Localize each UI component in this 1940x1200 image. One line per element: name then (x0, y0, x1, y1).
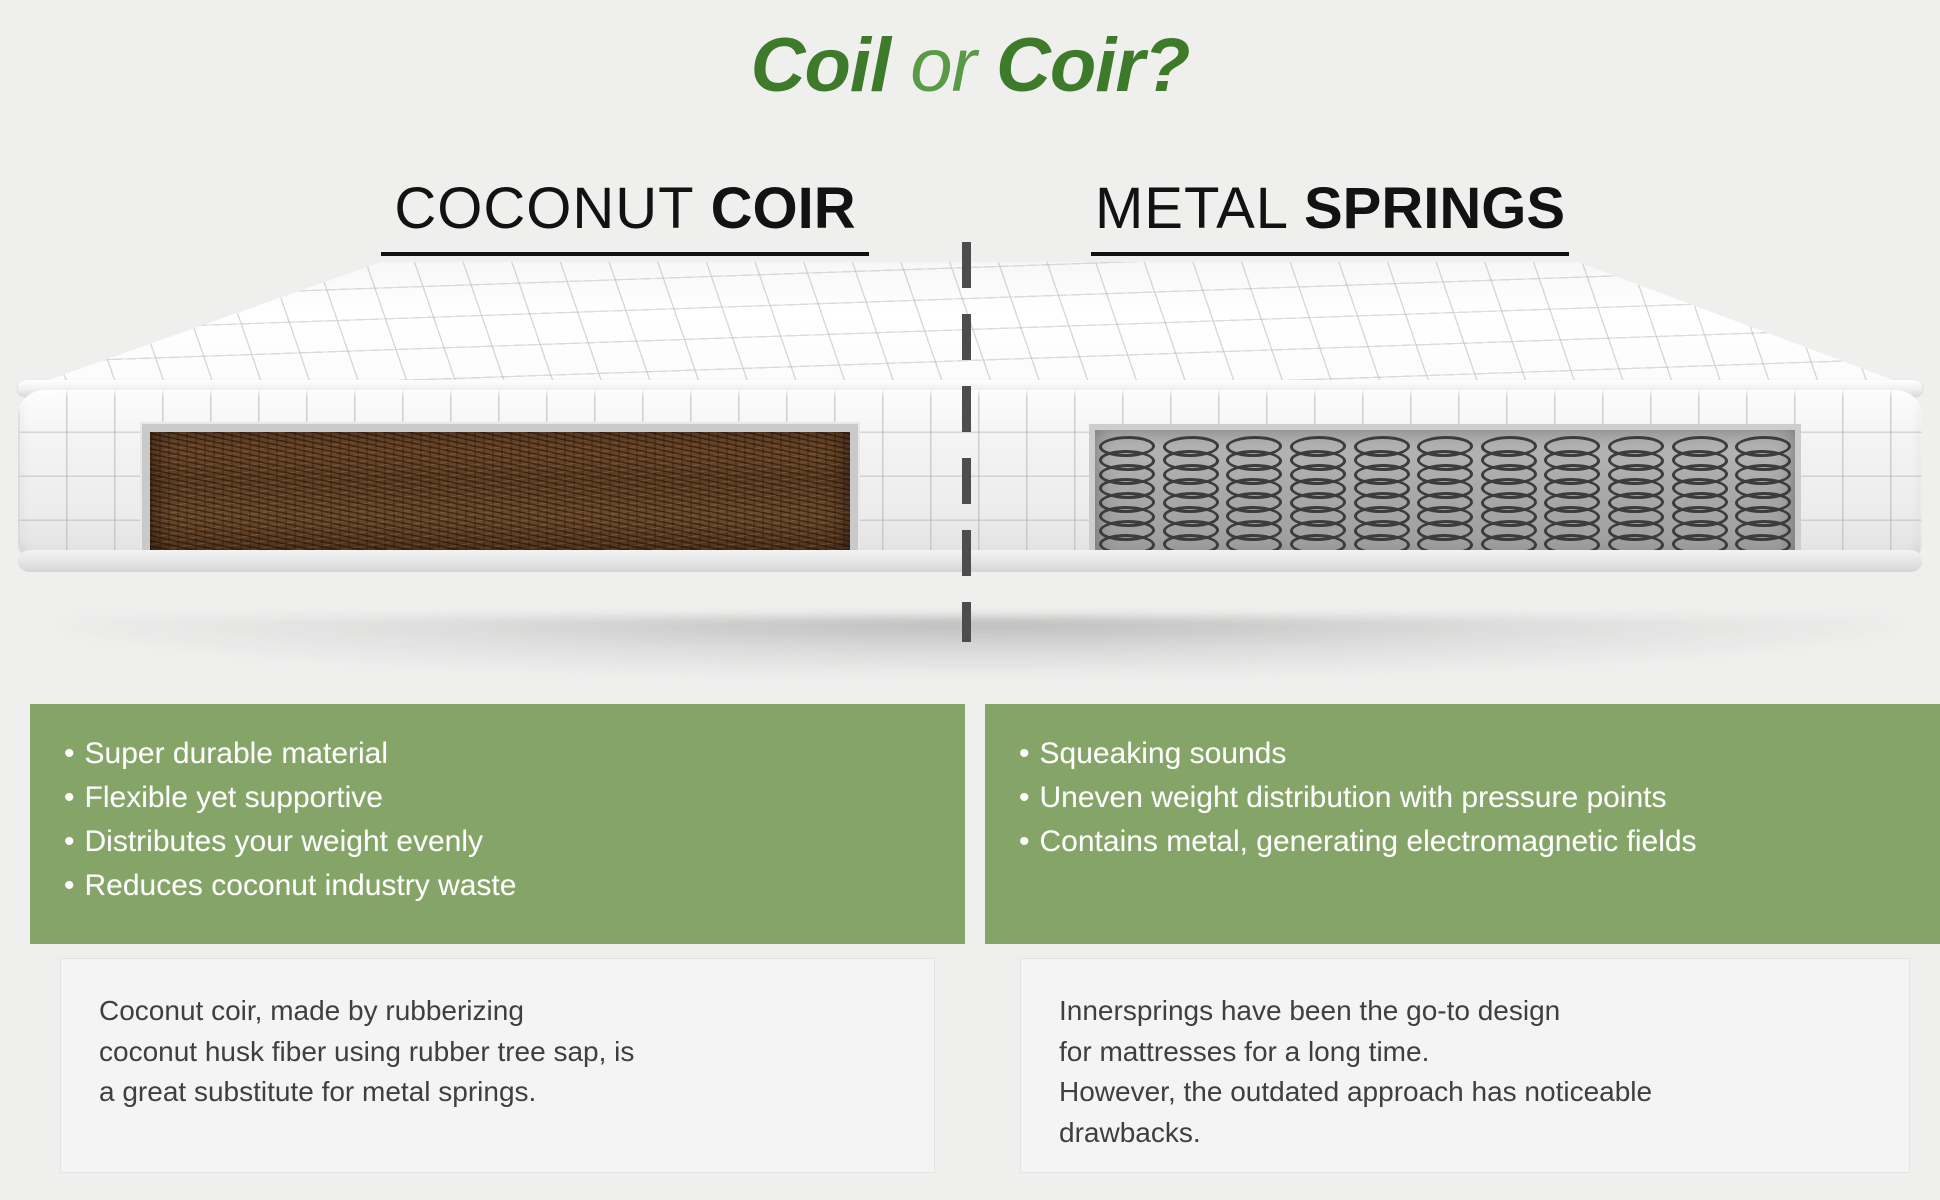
title-part-coil: Coil (751, 23, 891, 108)
column-header-right-text: METAL SPRINGS (960, 180, 1700, 238)
bullet-text: Squeaking sounds (1040, 737, 1287, 770)
coil-spring (1542, 436, 1598, 556)
header-right-bold: SPRINGS (1304, 176, 1565, 241)
title-part-coir: Coir? (996, 23, 1189, 108)
vertical-dashed-divider-icon (962, 242, 971, 642)
column-header-metal-springs: METAL SPRINGS (960, 180, 1700, 256)
list-item: •Flexible yet supportive (64, 776, 931, 820)
coil-spring (1415, 436, 1471, 556)
header-left-thin: COCONUT (394, 176, 710, 241)
bullet-marker-icon: • (1019, 781, 1030, 814)
title-text: Coil or Coir? (751, 23, 1190, 108)
page-title: Coil or Coir? (0, 22, 1940, 109)
mattress-drop-shadow (60, 617, 1900, 677)
bullet-marker-icon: • (64, 825, 75, 858)
coil-spring (1670, 436, 1726, 556)
coil-spring (1288, 436, 1344, 556)
header-right-underline (1091, 252, 1569, 256)
coconut-coir-fiber-core (150, 432, 850, 562)
bullet-list-right: •Squeaking sounds •Uneven weight distrib… (1019, 732, 1906, 864)
coil-spring (1733, 436, 1789, 556)
description-panel-coconut-coir: Coconut coir, made by rubberizing coconu… (60, 958, 935, 1173)
list-item: •Squeaking sounds (1019, 732, 1906, 776)
bullet-text: Super durable material (85, 737, 389, 770)
list-item: •Super durable material (64, 732, 931, 776)
bullet-marker-icon: • (64, 869, 75, 902)
bullet-marker-icon: • (64, 737, 75, 770)
drawbacks-panel-metal-springs: •Squeaking sounds •Uneven weight distrib… (985, 704, 1940, 944)
list-item: •Uneven weight distribution with pressur… (1019, 776, 1906, 820)
description-panel-metal-springs: Innersprings have been the go-to design … (1020, 958, 1910, 1173)
header-left-underline (381, 252, 869, 256)
bullet-text: Contains metal, generating electromagnet… (1040, 825, 1697, 858)
column-header-left-text: COCONUT COIR (255, 180, 995, 238)
bullet-marker-icon: • (1019, 737, 1030, 770)
bullet-marker-icon: • (64, 781, 75, 814)
coil-spring (1161, 436, 1217, 556)
title-part-or: or (890, 23, 996, 108)
bullet-text: Reduces coconut industry waste (85, 869, 517, 902)
coil-spring (1224, 436, 1280, 556)
description-text-left: Coconut coir, made by rubberizing coconu… (99, 991, 896, 1113)
bullet-text: Distributes your weight evenly (85, 825, 484, 858)
header-right-thin: METAL (1095, 176, 1304, 241)
header-left-bold: COIR (711, 176, 856, 241)
benefits-panel-coconut-coir: •Super durable material •Flexible yet su… (30, 704, 965, 944)
description-text-right: Innersprings have been the go-to design … (1059, 991, 1871, 1153)
coil-spring (1606, 436, 1662, 556)
metal-innerspring-coil-core (1095, 430, 1795, 562)
list-item: •Reduces coconut industry waste (64, 864, 931, 908)
bullet-list-left: •Super durable material •Flexible yet su… (64, 732, 931, 908)
coil-spring (1479, 436, 1535, 556)
coil-spring (1097, 436, 1153, 556)
bullet-marker-icon: • (1019, 825, 1030, 858)
column-header-coconut-coir: COCONUT COIR (255, 180, 995, 256)
list-item: •Contains metal, generating electromagne… (1019, 820, 1906, 864)
bullet-text: Uneven weight distribution with pressure… (1040, 781, 1667, 814)
coil-spring (1352, 436, 1408, 556)
list-item: •Distributes your weight evenly (64, 820, 931, 864)
bullet-text: Flexible yet supportive (85, 781, 383, 814)
